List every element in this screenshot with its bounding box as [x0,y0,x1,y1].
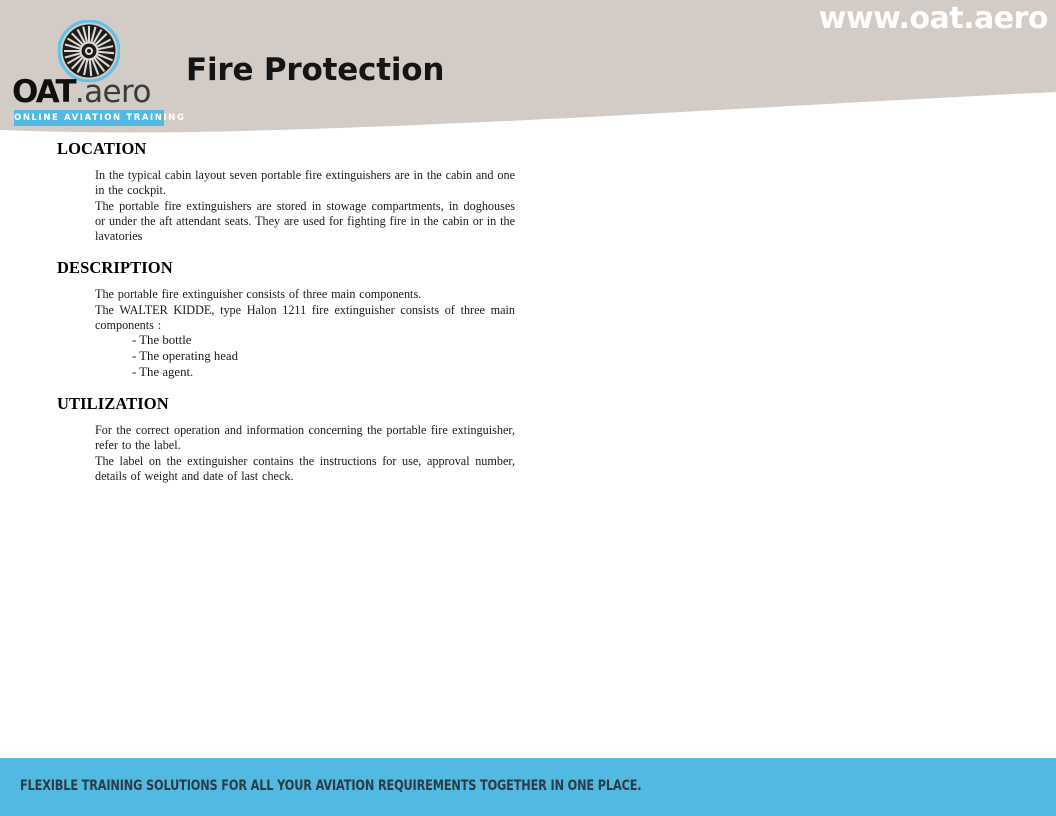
section-body-utilization: For the correct operation and informatio… [0,423,515,484]
section-utilization: UTILIZATION For the correct operation an… [0,393,1056,484]
section-body-description: The portable fire extinguisher consists … [0,287,515,380]
section-heading-utilization: UTILIZATION [0,393,1056,415]
section-heading-description: DESCRIPTION [0,257,1056,279]
turbine-wheel-icon [58,20,120,82]
paragraph: In the typical cabin layout seven portab… [95,168,515,199]
section-heading-location: LOCATION [0,138,1056,160]
paragraph: The portable fire extinguishers are stor… [95,199,515,245]
logo-wordmark-aero: aero [84,74,151,110]
paragraph: For the correct operation and informatio… [95,423,515,454]
slide-content: LOCATION In the typical cabin layout sev… [0,138,1056,488]
oat-logo: OAT.aero ONLINE AVIATION TRAINING [12,20,172,130]
paragraph: The WALTER KIDDE, type Halon 1211 fire e… [95,303,515,334]
logo-tagline: ONLINE AVIATION TRAINING [14,110,164,126]
paragraph: The portable fire extinguisher consists … [95,287,515,302]
list-item: - The agent. [95,365,515,381]
component-list: - The bottle - The operating head - The … [95,333,515,380]
logo-wordmark-oat: OAT [12,74,75,110]
logo-wordmark: OAT.aero [12,76,172,108]
paragraph: The label on the extinguisher contains t… [95,454,515,485]
logo-wordmark-dot: . [75,74,84,110]
section-description: DESCRIPTION The portable fire extinguish… [0,257,1056,380]
list-item: - The operating head [95,349,515,365]
footer-tagline: FLEXIBLE TRAINING SOLUTIONS FOR ALL YOUR… [20,776,641,796]
page-title: Fire Protection [186,52,444,88]
footer-banner: FLEXIBLE TRAINING SOLUTIONS FOR ALL YOUR… [0,758,1056,816]
site-url-label: www.oat.aero [819,1,1048,36]
section-body-location: In the typical cabin layout seven portab… [0,168,515,244]
list-item: - The bottle [95,333,515,349]
section-location: LOCATION In the typical cabin layout sev… [0,138,1056,244]
